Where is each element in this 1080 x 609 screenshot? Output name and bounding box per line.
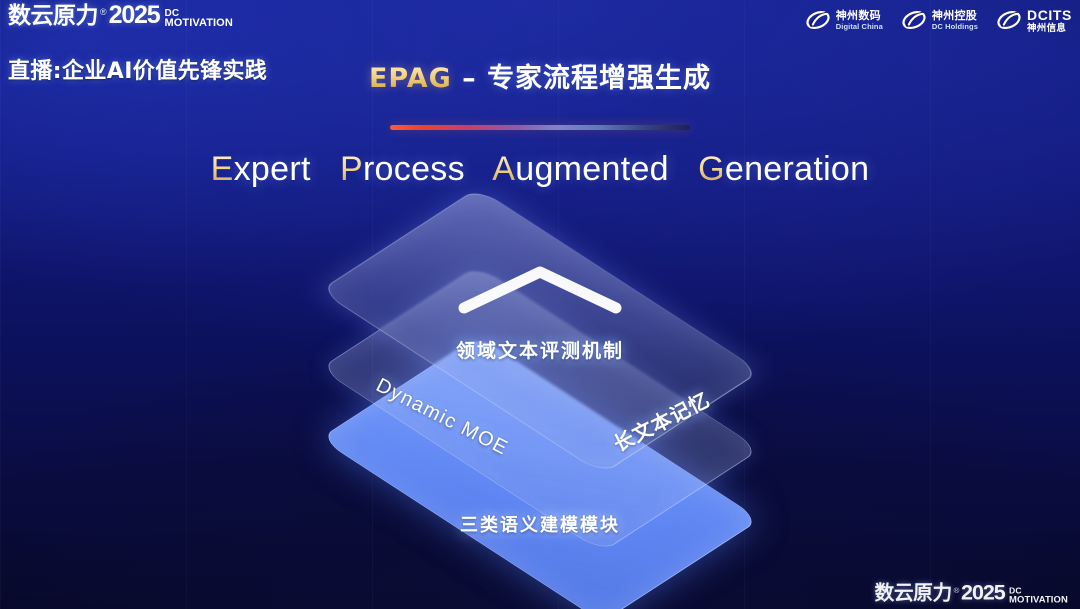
subheadline-word-augmented: Augmented xyxy=(492,150,669,188)
brand-motivation-label: MOTIVATION xyxy=(164,18,232,29)
partner-name-cn: 神州数码 xyxy=(836,10,883,21)
layered-architecture-diagram: 领域文本评测机制 Dynamic MOE 长文本记忆 三类语义建模模块 xyxy=(280,228,800,578)
brand-logo-bottom-right: 数云原力 ® 2025 DC MOTIVATION xyxy=(875,583,1068,605)
subheadline-cap: G xyxy=(698,150,725,188)
subheadline-cap: A xyxy=(492,150,515,188)
subheadline-space xyxy=(475,150,485,188)
slide-canvas: 数云原力 ® 2025 DC MOTIVATION 直播:企业AI价值先锋实践 … xyxy=(0,0,1080,609)
headline-acronym: EPAG xyxy=(369,63,452,94)
partner-logo-dcits: 神州信息 DCITS xyxy=(996,6,1072,34)
brand-name-cn: 数云原力 xyxy=(875,584,952,604)
partner-logo-group: 神州数码 Digital China 神州控股 DC Holdings xyxy=(805,6,1072,34)
gradient-divider xyxy=(390,125,690,130)
slide-header: 数云原力 ® 2025 DC MOTIVATION 直播:企业AI价值先锋实践 … xyxy=(0,0,1080,46)
subheadline-space xyxy=(320,150,330,188)
brand-motivation-label: MOTIVATION xyxy=(1009,595,1068,604)
headline-chinese: 专家流程增强生成 xyxy=(487,63,711,94)
partner-label: 神州控股 DC Holdings xyxy=(932,10,978,31)
subheadline-rest: eneration xyxy=(725,150,869,188)
brand-year: 2025 xyxy=(961,583,1005,605)
partner-name-en: DCITS xyxy=(1027,8,1072,22)
brand-name-cn: 数云原力 xyxy=(8,5,98,28)
partner-label: 神州信息 DCITS xyxy=(1027,6,1072,34)
chevron-up-glyph xyxy=(452,260,628,320)
brand-registered-mark: ® xyxy=(954,587,960,595)
subheadline-word-expert: Expert xyxy=(211,150,311,188)
brand-dc-motivation: DC MOTIVATION xyxy=(1009,588,1068,605)
brand-registered-mark: ® xyxy=(100,8,107,17)
partner-name-en: DC Holdings xyxy=(932,23,978,31)
subheadline-word-process: Process xyxy=(340,150,465,188)
slide-subheadline: Expert Process Augmented Generation xyxy=(0,150,1080,189)
subheadline-rest: ugmented xyxy=(515,150,669,188)
subheadline-word-generation: Generation xyxy=(698,150,869,188)
subheadline-rest: xpert xyxy=(234,150,311,188)
slide-headline: EPAG – 专家流程增强生成 xyxy=(0,56,1080,95)
partner-label: 神州数码 Digital China xyxy=(836,10,883,31)
headline-separator: – xyxy=(452,63,487,94)
brand-dc-motivation: DC MOTIVATION xyxy=(164,9,232,29)
subheadline-cap: P xyxy=(340,150,363,188)
partner-name-en: Digital China xyxy=(836,23,883,31)
partner-name-cn: 神州控股 xyxy=(932,10,978,21)
chevron-up-icon xyxy=(452,260,628,320)
subheadline-rest: rocess xyxy=(363,150,465,188)
brand-logo-top-left: 数云原力 ® 2025 DC MOTIVATION xyxy=(8,3,233,28)
partner-name-cn: 神州信息 xyxy=(1027,24,1072,34)
brand-year: 2025 xyxy=(109,3,160,28)
swoosh-icon xyxy=(996,8,1022,32)
partner-logo-dc-holdings: 神州控股 DC Holdings xyxy=(901,8,978,32)
partner-logo-digital-china: 神州数码 Digital China xyxy=(805,8,883,32)
swoosh-icon xyxy=(805,8,831,32)
swoosh-icon xyxy=(901,8,927,32)
subheadline-space xyxy=(679,150,689,188)
subheadline-cap: E xyxy=(211,150,234,188)
